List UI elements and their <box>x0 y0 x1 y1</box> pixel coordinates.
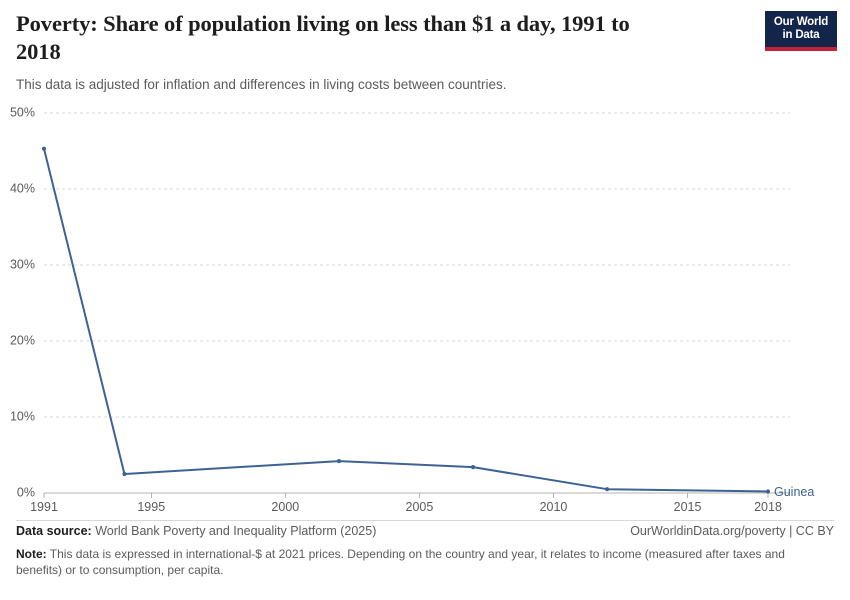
footer-note-text: This data is expressed in international-… <box>16 547 785 577</box>
y-axis-tick-label: 10% <box>10 409 35 423</box>
series-data-point[interactable] <box>337 459 341 463</box>
series-group: Guinea <box>42 147 814 499</box>
footer-attribution[interactable]: OurWorldinData.org/poverty | CC BY <box>630 524 834 538</box>
chart-header: Poverty: Share of population living on l… <box>16 10 756 94</box>
owid-logo-line-2: in Data <box>783 29 820 42</box>
x-axis-tick-label: 2018 <box>754 500 782 514</box>
owid-logo-line-1: Our World <box>774 16 828 29</box>
x-axis-tick-label: 2000 <box>271 500 299 514</box>
x-axis-tick-label: 2005 <box>406 500 434 514</box>
gridlines <box>44 113 790 417</box>
x-axis-tick-label: 1995 <box>137 500 165 514</box>
footer-source-row: Data source: World Bank Poverty and Ineq… <box>16 524 834 538</box>
y-axis-tick-label: 20% <box>10 333 35 347</box>
footer-note: Note: This data is expressed in internat… <box>16 547 826 578</box>
x-axis-tick-label: 2010 <box>540 500 568 514</box>
x-axis-tick-label: 2015 <box>674 500 702 514</box>
x-axis-labels: 1991199520002005201020152018 <box>30 500 782 514</box>
y-axis-tick-label: 40% <box>10 181 35 195</box>
series-data-point[interactable] <box>471 465 475 469</box>
series-data-point[interactable] <box>42 147 46 151</box>
footer-note-label: Note: <box>16 547 47 561</box>
x-axis <box>44 493 790 498</box>
series-data-point[interactable] <box>605 487 609 491</box>
chart-subtitle: This data is adjusted for inflation and … <box>16 76 756 94</box>
footer-divider <box>16 520 834 521</box>
y-axis-tick-label: 30% <box>10 257 35 271</box>
series-label-guinea[interactable]: Guinea <box>774 485 814 499</box>
footer-source: Data source: World Bank Poverty and Ineq… <box>16 524 376 538</box>
series-data-point[interactable] <box>766 489 770 493</box>
y-axis-labels: 0%10%20%30%40%50% <box>10 105 35 499</box>
series-line[interactable] <box>44 149 768 492</box>
chart-footer: Data source: World Bank Poverty and Ineq… <box>16 524 834 578</box>
series-data-point[interactable] <box>122 472 126 476</box>
x-axis-tick-label: 1991 <box>30 500 58 514</box>
owid-logo[interactable]: Our World in Data <box>765 11 837 51</box>
chart-page: Poverty: Share of population living on l… <box>0 0 850 600</box>
footer-source-label: Data source: <box>16 524 92 538</box>
footer-source-text: World Bank Poverty and Inequality Platfo… <box>95 524 376 538</box>
page-title: Poverty: Share of population living on l… <box>16 10 656 66</box>
y-axis-tick-label: 50% <box>10 105 35 119</box>
y-axis-tick-label: 0% <box>17 485 35 499</box>
